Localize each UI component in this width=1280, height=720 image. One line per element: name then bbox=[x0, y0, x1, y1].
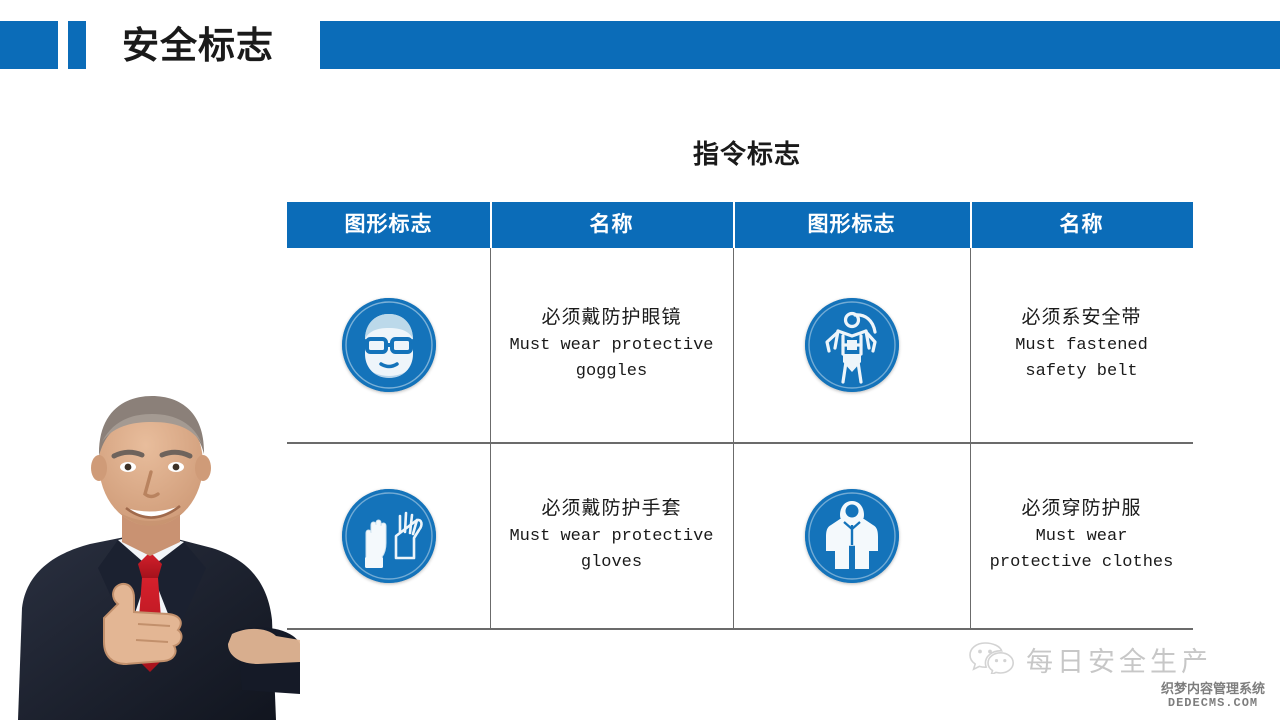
dedecms-watermark-cn: 织梦内容管理系统 bbox=[1152, 682, 1274, 696]
dedecms-watermark: 织梦内容管理系统 DEDECMS.COM bbox=[1152, 682, 1274, 711]
header-accent-block-wide bbox=[0, 21, 58, 69]
wechat-watermark: 每日安全生产 bbox=[968, 640, 1212, 679]
column-header-graphic-2: 图形标志 bbox=[733, 202, 970, 248]
sign-name-en: Must wear protective clothes bbox=[990, 524, 1174, 577]
sign-name-en-line1: Must wear protective bbox=[509, 527, 713, 546]
protective-clothes-sign-icon bbox=[805, 489, 899, 583]
wechat-icon bbox=[968, 640, 1014, 679]
sign-name-en-line1: Must wear protective bbox=[509, 336, 713, 355]
section-title: 指令标志 bbox=[287, 134, 1207, 171]
sign-name-en-line2: goggles bbox=[576, 362, 647, 381]
sign-name-en-line2: gloves bbox=[581, 553, 642, 572]
cell-name-goggles: 必须戴防护眼镜 Must wear protective goggles bbox=[490, 248, 733, 442]
sign-name-en-line1: Must fastened bbox=[1015, 336, 1148, 355]
safety-sign-table: 图形标志 名称 图形标志 名称 bbox=[287, 202, 1193, 630]
cell-name-gloves: 必须戴防护手套 Must wear protective gloves bbox=[490, 444, 733, 628]
sign-name-cn: 必须戴防护手套 bbox=[541, 495, 681, 524]
sign-name-en: Must wear protective goggles bbox=[509, 333, 713, 386]
header-accent-block-narrow bbox=[68, 21, 86, 69]
safety-goggles-sign-icon bbox=[342, 298, 436, 392]
column-header-graphic-1: 图形标志 bbox=[287, 202, 490, 248]
cell-name-harness: 必须系安全带 Must fastened safety belt bbox=[970, 248, 1193, 442]
wechat-account-name: 每日安全生产 bbox=[1026, 640, 1212, 679]
sign-name-en: Must fastened safety belt bbox=[1015, 333, 1148, 386]
sign-name-en-line2: safety belt bbox=[1025, 362, 1137, 381]
header-accent-block-right bbox=[320, 21, 1280, 69]
sign-name-cn: 必须穿防护服 bbox=[1021, 495, 1141, 524]
cell-sign-gloves bbox=[287, 444, 490, 628]
cell-sign-clothes bbox=[733, 444, 970, 628]
table-header-row: 图形标志 名称 图形标志 名称 bbox=[287, 202, 1193, 248]
cell-sign-goggles bbox=[287, 248, 490, 442]
protective-gloves-sign-icon bbox=[342, 489, 436, 583]
column-header-name-1: 名称 bbox=[490, 202, 733, 248]
cell-name-clothes: 必须穿防护服 Must wear protective clothes bbox=[970, 444, 1193, 628]
dedecms-watermark-en: DEDECMS.COM bbox=[1152, 696, 1274, 710]
slide-canvas: 安全标志 指令标志 图形标志 名称 图形标志 名称 bbox=[0, 0, 1280, 720]
table-row: 必须戴防护眼镜 Must wear protective goggles bbox=[287, 248, 1193, 442]
table-row: 必须戴防护手套 Must wear protective gloves bbox=[287, 444, 1193, 628]
table-bottom-border bbox=[287, 628, 1193, 630]
sign-name-cn: 必须系安全带 bbox=[1021, 304, 1141, 333]
sign-name-cn: 必须戴防护眼镜 bbox=[541, 304, 681, 333]
cell-sign-harness bbox=[733, 248, 970, 442]
page-title: 安全标志 bbox=[122, 18, 317, 74]
sign-name-en-line1: Must wear bbox=[1036, 527, 1128, 546]
sign-name-en-line2: protective clothes bbox=[990, 553, 1174, 572]
businessman-photo bbox=[0, 372, 300, 720]
safety-harness-sign-icon bbox=[805, 298, 899, 392]
column-header-name-2: 名称 bbox=[970, 202, 1193, 248]
sign-name-en: Must wear protective gloves bbox=[509, 524, 713, 577]
